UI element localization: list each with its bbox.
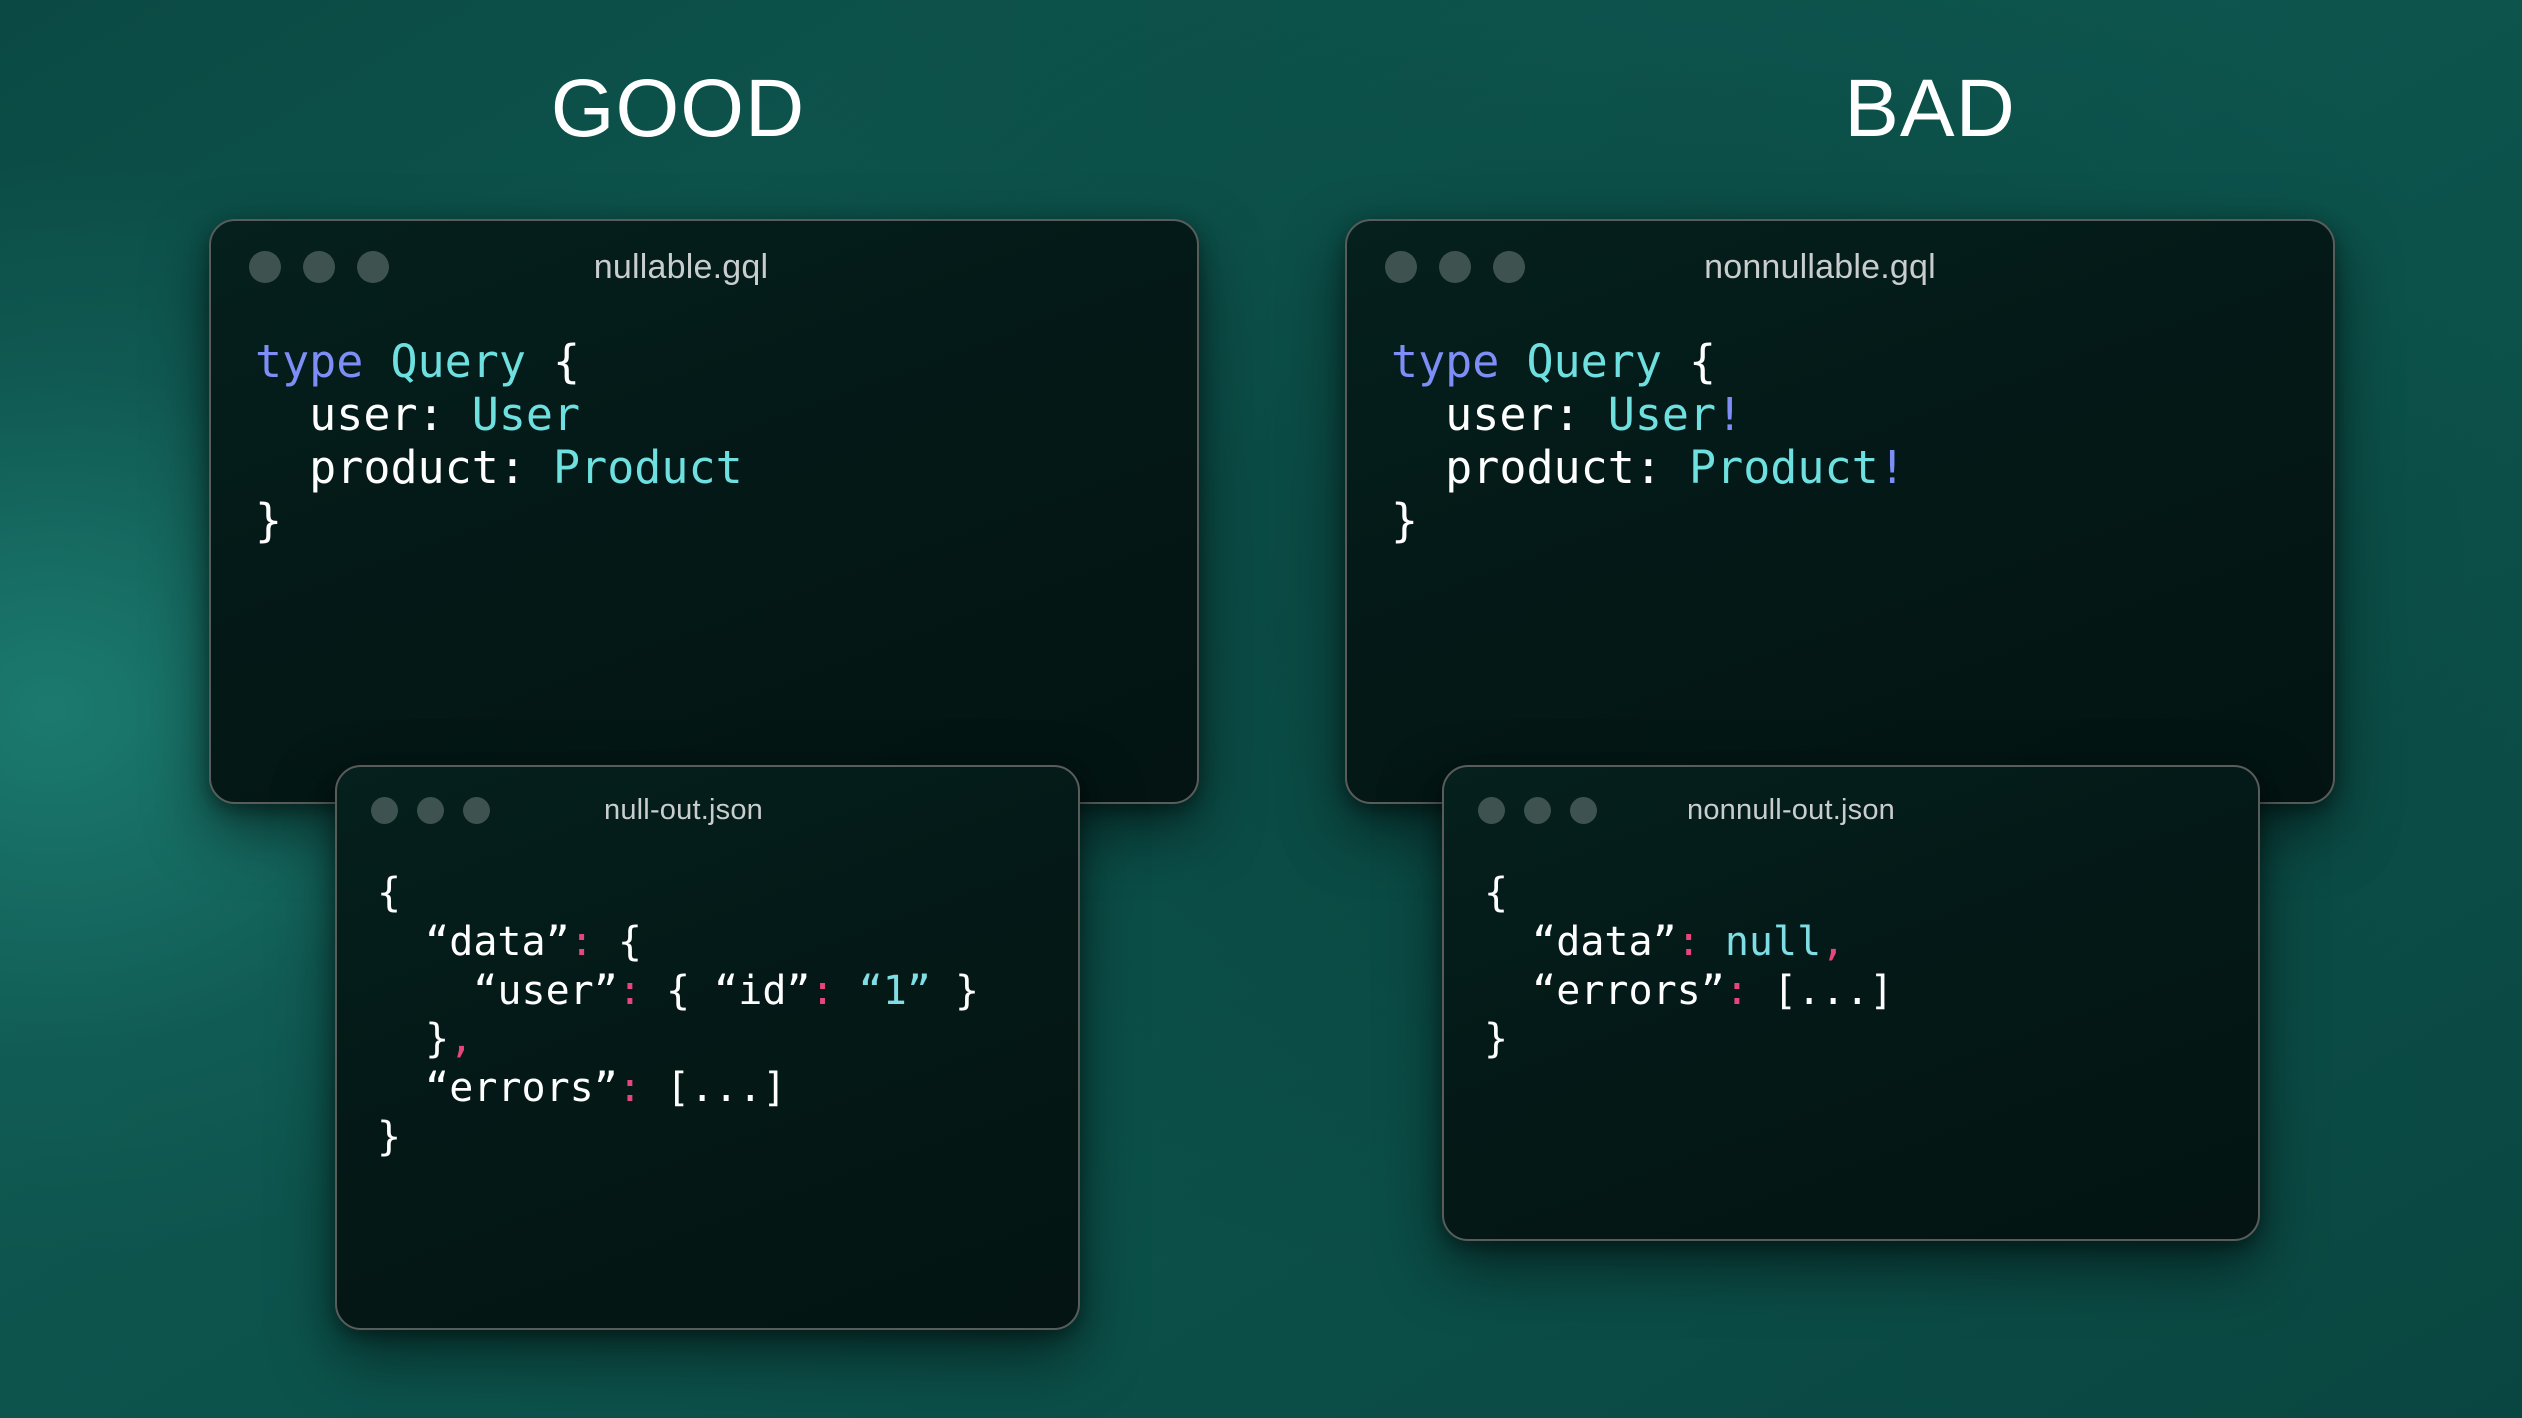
- code-token: “1”: [859, 968, 931, 1014]
- code-content: type Query { user: User product: Product…: [211, 313, 1197, 547]
- window-titlebar: nonnull-out.json: [1444, 767, 2258, 853]
- code-line: user: User!: [1391, 388, 2333, 441]
- code-token: }: [255, 494, 282, 547]
- code-window-nonnull-output: nonnull-out.json { “data”: null, “errors…: [1442, 765, 2260, 1241]
- code-window-nullable-schema: nullable.gql type Query { user: User pro…: [209, 219, 1199, 804]
- code-token: [1499, 335, 1526, 388]
- code-token: {: [1484, 870, 1508, 916]
- code-token: :: [618, 968, 642, 1014]
- code-token: {: [553, 335, 580, 388]
- code-token: type: [1391, 335, 1499, 388]
- window-traffic-lights: [371, 797, 490, 824]
- window-titlebar: nonnullable.gql: [1347, 221, 2333, 313]
- code-token: {: [1689, 335, 1716, 388]
- code-token: user:: [1391, 388, 1608, 441]
- code-token: null: [1725, 919, 1821, 965]
- maximize-dot-icon[interactable]: [463, 797, 490, 824]
- maximize-dot-icon[interactable]: [1570, 797, 1597, 824]
- code-line: product: Product: [255, 441, 1197, 494]
- window-titlebar: nullable.gql: [211, 221, 1197, 313]
- code-token: }: [1391, 494, 1418, 547]
- code-token: !: [1879, 441, 1906, 494]
- code-token: user:: [255, 388, 472, 441]
- code-token: ,: [449, 1016, 473, 1062]
- code-token: [...]: [1749, 968, 1894, 1014]
- code-line: }: [255, 494, 1197, 547]
- code-line: }: [1391, 494, 2333, 547]
- code-token: “data”: [377, 919, 570, 965]
- code-window-nonnullable-schema: nonnullable.gql type Query { user: User!…: [1345, 219, 2335, 804]
- window-traffic-lights: [1385, 251, 1525, 283]
- maximize-dot-icon[interactable]: [357, 251, 389, 283]
- window-traffic-lights: [1478, 797, 1597, 824]
- code-token: “id”: [714, 968, 810, 1014]
- code-line: }: [1484, 1015, 2258, 1064]
- window-titlebar: null-out.json: [337, 767, 1078, 853]
- close-dot-icon[interactable]: [249, 251, 281, 283]
- minimize-dot-icon[interactable]: [1439, 251, 1471, 283]
- code-line: “data”: {: [377, 918, 1078, 967]
- close-dot-icon[interactable]: [1385, 251, 1417, 283]
- code-token: !: [1716, 388, 1743, 441]
- maximize-dot-icon[interactable]: [1493, 251, 1525, 283]
- code-token: }: [1484, 1016, 1508, 1062]
- diagram-canvas: GOOD nullable.gql type Query { user: Use…: [0, 0, 2522, 1418]
- code-line: “user”: { “id”: “1” }: [377, 967, 1078, 1016]
- code-token: product:: [1391, 441, 1689, 494]
- code-content: { “data”: null, “errors”: [...]}: [1444, 853, 2258, 1064]
- code-line: product: Product!: [1391, 441, 2333, 494]
- code-token: ,: [1821, 919, 1845, 965]
- code-token: :: [811, 968, 835, 1014]
- minimize-dot-icon[interactable]: [417, 797, 444, 824]
- code-token: :: [1725, 968, 1749, 1014]
- code-token: User: [472, 388, 580, 441]
- code-token: product:: [255, 441, 553, 494]
- code-token: {: [642, 968, 714, 1014]
- code-token: “data”: [1484, 919, 1677, 965]
- code-line: user: User: [255, 388, 1197, 441]
- code-token: Product: [1689, 441, 1879, 494]
- code-token: }: [931, 968, 979, 1014]
- code-token: {: [594, 919, 642, 965]
- code-token: :: [1677, 919, 1701, 965]
- code-line: },: [377, 1015, 1078, 1064]
- code-content: type Query { user: User! product: Produc…: [1347, 313, 2333, 547]
- column-heading-bad: BAD: [1620, 68, 2240, 150]
- code-token: “user”: [377, 968, 618, 1014]
- minimize-dot-icon[interactable]: [1524, 797, 1551, 824]
- code-token: [1662, 335, 1689, 388]
- code-line: {: [1484, 869, 2258, 918]
- code-token: [...]: [642, 1065, 787, 1111]
- code-token: [1701, 919, 1725, 965]
- code-token: }: [377, 1114, 401, 1160]
- window-traffic-lights: [249, 251, 389, 283]
- code-window-null-output: null-out.json { “data”: { “user”: { “id”…: [335, 765, 1080, 1330]
- code-token: type: [255, 335, 363, 388]
- code-token: }: [377, 1016, 449, 1062]
- code-line: type Query {: [1391, 335, 2333, 388]
- close-dot-icon[interactable]: [1478, 797, 1505, 824]
- code-token: Query: [1526, 335, 1661, 388]
- code-token: [526, 335, 553, 388]
- minimize-dot-icon[interactable]: [303, 251, 335, 283]
- code-line: “errors”: [...]: [377, 1064, 1078, 1113]
- column-heading-good: GOOD: [368, 68, 988, 150]
- code-token: User: [1608, 388, 1716, 441]
- code-token: Query: [390, 335, 525, 388]
- code-token: Product: [553, 441, 743, 494]
- close-dot-icon[interactable]: [371, 797, 398, 824]
- code-token: {: [377, 870, 401, 916]
- code-token: [835, 968, 859, 1014]
- code-line: type Query {: [255, 335, 1197, 388]
- code-token: “errors”: [377, 1065, 618, 1111]
- code-token: “errors”: [1484, 968, 1725, 1014]
- code-token: :: [570, 919, 594, 965]
- code-token: :: [618, 1065, 642, 1111]
- code-line: “data”: null,: [1484, 918, 2258, 967]
- code-line: }: [377, 1113, 1078, 1162]
- code-content: { “data”: { “user”: { “id”: “1” } }, “er…: [337, 853, 1078, 1162]
- code-line: {: [377, 869, 1078, 918]
- code-line: “errors”: [...]: [1484, 967, 2258, 1016]
- code-token: [363, 335, 390, 388]
